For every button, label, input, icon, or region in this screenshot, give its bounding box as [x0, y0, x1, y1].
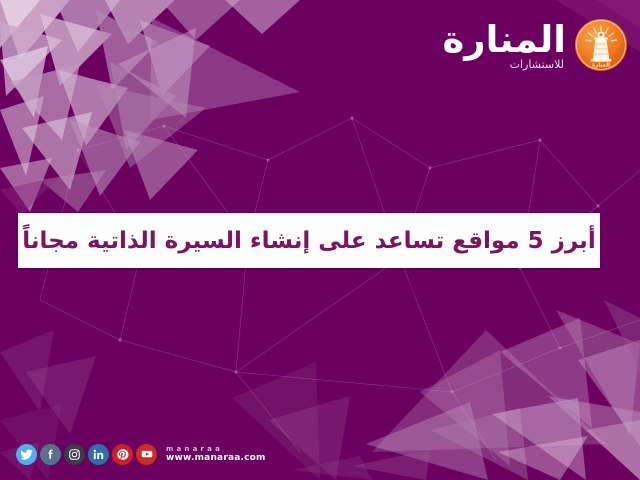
- emblem-inner-text: المنارة: [592, 63, 610, 69]
- logo-wordmark: المنارة للاستشارات: [442, 21, 566, 70]
- lighthouse-emblem-icon: المنارة: [574, 18, 628, 72]
- website-block[interactable]: manaraa www.manaraa.com: [166, 445, 266, 463]
- brand-logo[interactable]: المنارة للاستشارات: [442, 18, 628, 72]
- logo-tagline: للاستشارات: [510, 59, 564, 70]
- pinterest-icon[interactable]: [112, 444, 133, 465]
- footer-bar: manaraa www.manaraa.com: [0, 428, 640, 480]
- instagram-icon[interactable]: [64, 444, 85, 465]
- linkedin-icon[interactable]: [88, 444, 109, 465]
- social-links: [16, 444, 157, 465]
- youtube-icon[interactable]: [136, 444, 157, 465]
- site-name: manaraa: [166, 445, 266, 453]
- headline-banner: أبرز 5 مواقع تساعد على إنشاء السيرة الذا…: [18, 213, 600, 268]
- promo-poster: المنارة للاستشارات: [0, 0, 640, 480]
- logo-name: المنارة: [442, 21, 566, 58]
- site-url[interactable]: www.manaraa.com: [166, 453, 266, 463]
- facebook-icon[interactable]: [40, 444, 61, 465]
- twitter-icon[interactable]: [16, 444, 37, 465]
- headline-text: أبرز 5 مواقع تساعد على إنشاء السيرة الذا…: [22, 228, 595, 254]
